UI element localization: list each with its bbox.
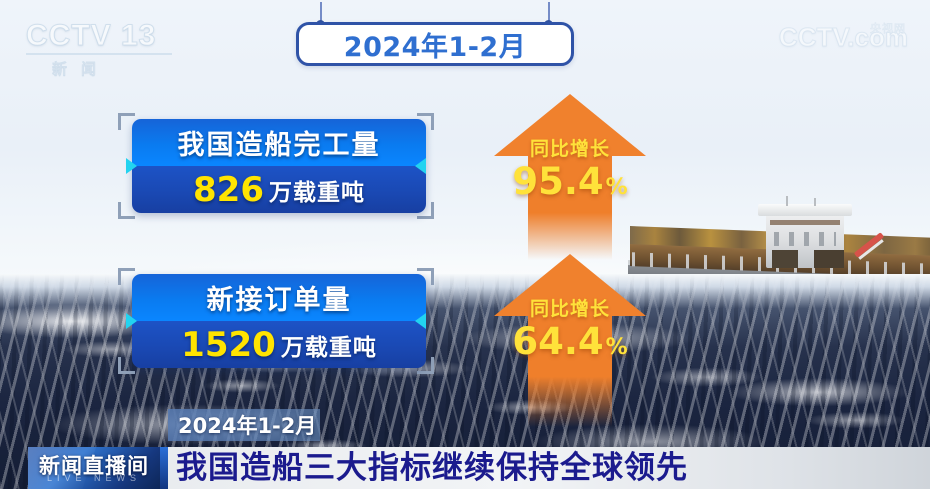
stat-card-body: 我国造船完工量 826 万载重吨 [132, 119, 426, 213]
growth-label: 同比增长 [494, 294, 646, 321]
stat-card-body: 新接订单量 1520 万载重吨 [132, 274, 426, 368]
marker-triangle-right-icon [415, 158, 426, 174]
channel-logo-underline [26, 53, 172, 55]
program-logo: 新闻直播间 LIVE NEWS [28, 447, 160, 489]
stat-card-valuerow: 826 万载重吨 [132, 166, 426, 213]
growth-percent: 64.4% [494, 320, 646, 363]
marker-triangle-left-icon [126, 313, 137, 329]
marker-triangle-left-icon [126, 158, 137, 174]
stat-card-value: 826 [193, 170, 264, 210]
lower-third-headline-bar: 我国造船三大指标继续保持全球领先 [168, 447, 930, 489]
ship-bridge-door-right [814, 250, 844, 268]
stat-card-shipbuilding-completion: 我国造船完工量 826 万载重吨 [118, 113, 434, 219]
lower-third-date: 2024年1-2月 [168, 409, 320, 441]
date-banner: 2024年1-2月 [296, 22, 574, 66]
stat-card-unit: 万载重吨 [281, 328, 377, 362]
stat-card-header: 新接订单量 [132, 274, 426, 321]
ship-bridge-door-left [772, 250, 798, 268]
ship-mast-secondary [814, 198, 816, 206]
growth-percent-value: 95.4 [512, 160, 603, 203]
ship-bridge-visor [770, 220, 840, 225]
stat-card-new-orders: 新接订单量 1520 万载重吨 [118, 268, 434, 374]
stat-card-valuerow: 1520 万载重吨 [132, 321, 426, 368]
growth-label: 同比增长 [494, 134, 646, 161]
broadcast-frame: CCTV 13 新闻 央视网 CCTV.com 2024年1-2月 我国造船完工… [0, 0, 930, 489]
growth-percent: 95.4% [494, 160, 646, 203]
percent-sign-icon: % [606, 335, 628, 360]
stat-card-title: 新接订单量 [207, 278, 352, 317]
percent-sign-icon: % [606, 175, 628, 200]
growth-percent-value: 64.4 [512, 320, 603, 363]
program-logo-en: LIVE NEWS [36, 473, 152, 483]
channel-logo-subtitle: 新闻 [26, 58, 186, 79]
stat-card-title: 我国造船完工量 [178, 123, 381, 162]
ship-mast [786, 196, 788, 206]
ship-bridge-roof [758, 204, 852, 216]
ship-bridge-windows [774, 232, 836, 246]
date-banner-label: 2024年1-2月 [344, 25, 526, 64]
stat-card-value: 1520 [181, 325, 276, 365]
lower-third-date-label: 2024年1-2月 [178, 410, 316, 440]
marker-triangle-right-icon [415, 313, 426, 329]
lower-third-headline: 我国造船三大指标继续保持全球领先 [168, 447, 688, 489]
stat-card-unit: 万载重吨 [269, 173, 365, 207]
stat-card-header: 我国造船完工量 [132, 119, 426, 166]
